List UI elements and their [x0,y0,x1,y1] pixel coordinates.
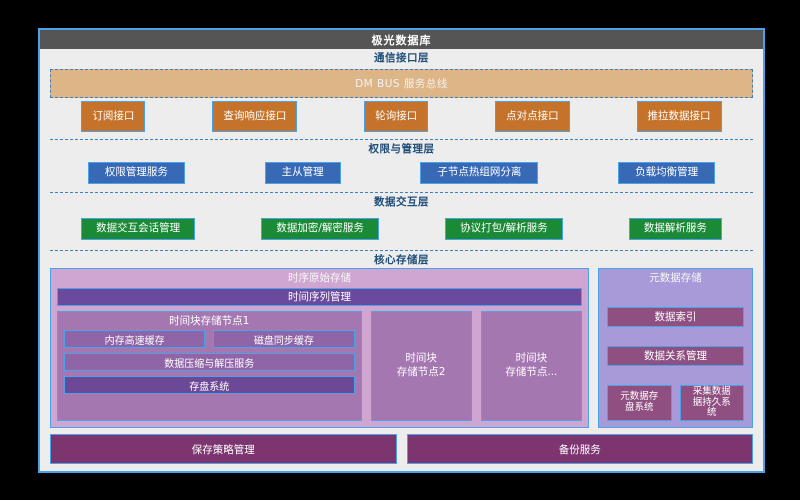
metadata-spacer-top [607,288,744,307]
permission-box-node-isolation[interactable]: 子节点热组网分离 [420,162,538,184]
storage-nodes-row: 时间块存储节点1 内存高速缓存 磁盘同步缓存 数据压缩与解压服务 存盘系统 时间… [57,311,582,421]
storage-node-1[interactable]: 时间块存储节点1 内存高速缓存 磁盘同步缓存 数据压缩与解压服务 存盘系统 [57,311,362,421]
storage-node-1-title: 时间块存储节点1 [64,315,355,331]
save-policy-management-box[interactable]: 保存策略管理 [50,434,397,464]
layer-title-permission: 权限与管理层 [48,140,755,158]
exchange-box-parsing[interactable]: 数据解析服务 [629,218,722,240]
permission-box-auth-service[interactable]: 权限管理服务 [88,162,185,184]
core-storage-wrapper: 时序原始存储 时间序列管理 时间块存储节点1 内存高速缓存 磁盘同步缓存 数据压… [48,268,755,428]
interface-box-subscribe[interactable]: 订阅接口 [81,101,145,132]
metadata-pair-row: 元数据存 盘系统 采集数据 据持久系 统 [607,385,744,421]
timeseries-panel-title: 时序原始存储 [57,273,582,288]
app-window: 极光数据库 通信接口层 DM BUS 服务总线 订阅接口 查询响应接口 轮询接口… [38,28,765,473]
layer-title-communication: 通信接口层 [48,49,755,67]
backup-service-box[interactable]: 备份服务 [407,434,754,464]
interface-box-p2p[interactable]: 点对点接口 [495,101,570,132]
cache-pair: 内存高速缓存 磁盘同步缓存 [64,330,355,348]
permission-box-load-balance[interactable]: 负载均衡管理 [618,162,715,184]
window-title: 极光数据库 [372,32,432,48]
window-titlebar: 极光数据库 [40,30,763,49]
layer-title-core-storage: 核心存储层 [48,251,755,269]
exchange-box-protocol[interactable]: 协议打包/解析服务 [445,218,563,240]
interface-row: 订阅接口 查询响应接口 轮询接口 点对点接口 推拉数据接口 [48,98,755,136]
diagram-canvas: 通信接口层 DM BUS 服务总线 订阅接口 查询响应接口 轮询接口 点对点接口… [40,49,763,471]
data-relation-box[interactable]: 数据关系管理 [607,346,744,366]
interface-box-polling[interactable]: 轮询接口 [364,101,428,132]
storage-node-2[interactable]: 时间块 存储节点2 [371,311,472,421]
timeseries-management-bar[interactable]: 时间序列管理 [57,288,582,306]
metadata-spacer-mid [607,327,744,346]
metadata-panel-title: 元数据存储 [607,273,744,288]
exchange-box-encryption[interactable]: 数据加密/解密服务 [261,218,379,240]
bottom-services-row: 保存策略管理 备份服务 [48,428,755,464]
metadata-disk-system-box[interactable]: 元数据存 盘系统 [607,385,672,421]
collect-persistence-box[interactable]: 采集数据 据持久系 统 [680,385,745,421]
layer-title-exchange: 数据交互层 [48,193,755,211]
interface-box-query-response[interactable]: 查询响应接口 [212,101,297,132]
exchange-row: 数据交互会话管理 数据加密/解密服务 协议打包/解析服务 数据解析服务 [48,211,755,247]
permission-row: 权限管理服务 主从管理 子节点热组网分离 负载均衡管理 [48,157,755,189]
exchange-box-session[interactable]: 数据交互会话管理 [81,218,195,240]
timeseries-storage-panel: 时序原始存储 时间序列管理 时间块存储节点1 内存高速缓存 磁盘同步缓存 数据压… [50,268,589,428]
interface-box-push-pull[interactable]: 推拉数据接口 [637,101,722,132]
storage-node-more[interactable]: 时间块 存储节点... [481,311,582,421]
service-bus-bar[interactable]: DM BUS 服务总线 [50,69,753,98]
persistence-system-box[interactable]: 存盘系统 [64,376,355,394]
data-index-box[interactable]: 数据索引 [607,307,744,327]
disk-sync-cache-box[interactable]: 磁盘同步缓存 [213,330,354,348]
metadata-storage-panel: 元数据存储 数据索引 数据关系管理 元数据存 盘系统 采集数据 据持久系 统 [598,268,753,428]
memory-cache-box[interactable]: 内存高速缓存 [64,330,205,348]
compression-service-box[interactable]: 数据压缩与解压服务 [64,353,355,371]
diagram-root: 极光数据库 通信接口层 DM BUS 服务总线 订阅接口 查询响应接口 轮询接口… [0,0,800,500]
metadata-spacer-bottom [607,366,744,385]
permission-box-master-slave[interactable]: 主从管理 [265,162,341,184]
